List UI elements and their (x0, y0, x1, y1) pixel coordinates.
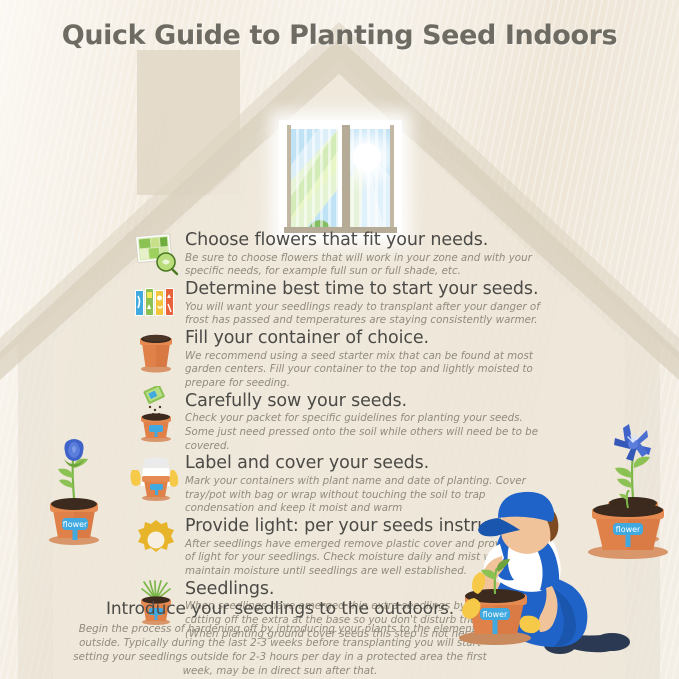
sheer-curtain-right (343, 129, 393, 229)
page-title: Quick Guide to Planting Seed Indoors (0, 20, 679, 51)
step-heading: Label and cover your seeds. (185, 454, 553, 474)
step-body: You will want your seedlings ready to tr… (185, 301, 553, 328)
blue-rose-in-pot: flower (34, 420, 114, 550)
sun-light-icon (133, 517, 179, 563)
step-heading: Fill your container of choice. (185, 329, 553, 349)
footer-section: Introduce your seedlings to the outdoors… (60, 600, 500, 678)
window-illustration (279, 120, 402, 238)
window-mullion (342, 125, 350, 233)
step-body: Check your packet for specific guideline… (185, 412, 553, 453)
step-item: Determine best time to start your seeds.… (133, 280, 553, 328)
sheer-curtain-left (288, 129, 338, 229)
pot-label-text: flower (483, 610, 508, 619)
footer-heading: Introduce your seedlings to the outdoors… (60, 600, 500, 619)
infographic-poster: Quick Guide to Planting Seed Indoors (0, 0, 679, 679)
window-pane-left (288, 129, 338, 229)
covered-pot-gloves-icon (128, 454, 184, 500)
window-frame-left (287, 125, 291, 233)
filled-pot-icon (133, 329, 179, 375)
pot-label-text: flower (63, 520, 88, 529)
step-item: Choose flowers that fit your needs. Be s… (133, 231, 553, 279)
window-pane-right (343, 129, 393, 229)
step-body: Be sure to choose flowers that will work… (185, 252, 553, 279)
gardener-planting-seedling: flower (440, 490, 679, 679)
pot-label-text: flower (616, 525, 641, 534)
sowing-seeds-icon (133, 386, 179, 442)
seed-catalog-icon (133, 231, 179, 277)
step-item: Fill your container of choice. We recomm… (133, 329, 553, 391)
step-heading: Determine best time to start your seeds. (185, 280, 553, 300)
step-body: We recommend using a seed starter mix th… (185, 350, 553, 391)
seed-packets-icon (133, 280, 179, 326)
step-heading: Choose flowers that fit your needs. (185, 231, 553, 251)
window-frame-right (390, 125, 394, 233)
step-heading: Carefully sow your seeds. (185, 392, 553, 412)
footer-body: Begin the process of hardening off by in… (60, 622, 500, 678)
step-item: Carefully sow your seeds. Check your pac… (133, 392, 553, 454)
